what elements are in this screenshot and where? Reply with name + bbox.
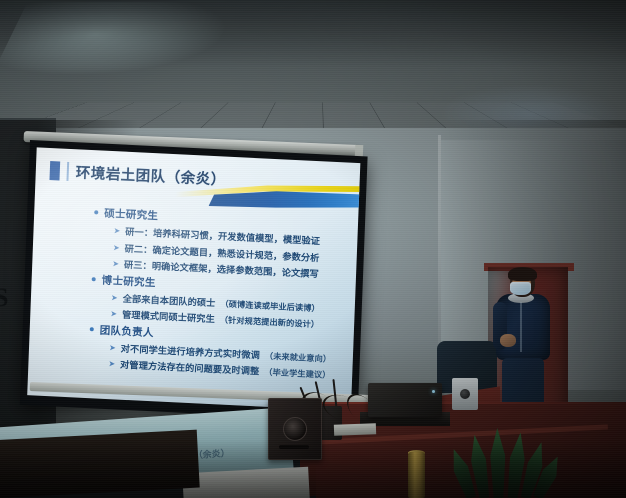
foreground-shadow (0, 430, 200, 498)
slide-sub-item-note: （毕业学生建议） (264, 366, 331, 381)
speaker-cone-icon (283, 417, 307, 441)
presenter-hair (508, 267, 537, 281)
slide-sub-item-label: 全部来自本团队的硕士 (122, 290, 215, 309)
bullet-dot-icon (90, 327, 94, 331)
speaker-bass-port (279, 445, 309, 449)
title-accent-block-icon (49, 161, 60, 180)
arrow-bullet-icon: ➤ (113, 226, 120, 235)
monitor-lens-icon (460, 389, 470, 399)
bullet-dot-icon (92, 277, 96, 281)
slide-heading-label: 博士研究生 (101, 272, 156, 290)
meeting-room-photo: S 环境岩土团队（余炎） (0, 0, 626, 498)
network-switch[interactable] (334, 423, 376, 435)
slide-body: 硕士研究生 ➤ 研一：培养科研习惯，开发数值模型，模型验证 ➤ 研二：确定论文题… (88, 205, 356, 384)
wall-signage-text: S (0, 286, 9, 309)
slide-heading-label: 团队负责人 (99, 322, 154, 340)
wall-corner-edge (438, 135, 441, 365)
title-accent-line-icon (66, 162, 69, 181)
ceiling-light-glow (0, 2, 238, 74)
arrow-bullet-icon: ➤ (111, 293, 118, 302)
potted-plant (460, 422, 560, 498)
bullet-dot-icon (94, 210, 98, 214)
slide-title-row: 环境岩土团队（余炎） (49, 160, 226, 190)
presenter-jacket-zipper (520, 302, 522, 352)
slide-sub-item-note: （未来就业意向） (265, 349, 332, 364)
arrow-bullet-icon: ➤ (112, 259, 119, 268)
arrow-bullet-icon: ➤ (110, 309, 117, 318)
projector-screen[interactable]: 环境岩土团队（余炎） 硕士研究生 ➤ 研一：培养科研习惯，开发数值模型，模型验证… (20, 140, 368, 421)
slide-heading-label: 硕士研究生 (104, 206, 159, 224)
slide-sub-item-label: 管理模式同硕士研究生 (122, 307, 215, 326)
desktop-computer[interactable] (368, 383, 442, 417)
plant-leaf (490, 428, 506, 498)
gold-beverage-can[interactable] (408, 452, 425, 498)
audio-speaker[interactable] (268, 398, 322, 460)
presentation-slide: 环境岩土团队（余炎） 硕士研究生 ➤ 研一：培养科研习惯，开发数值模型，模型验证… (27, 147, 360, 411)
face-mask-icon (510, 282, 531, 295)
arrow-bullet-icon: ➤ (108, 359, 115, 368)
power-led-icon (432, 390, 435, 393)
arrow-bullet-icon: ➤ (109, 343, 116, 352)
arrow-bullet-icon: ➤ (113, 243, 120, 252)
presenter (492, 268, 554, 408)
presenter-hands (500, 334, 516, 347)
paper-document[interactable] (182, 467, 310, 498)
slide-title: 环境岩土团队（余炎） (75, 161, 226, 189)
